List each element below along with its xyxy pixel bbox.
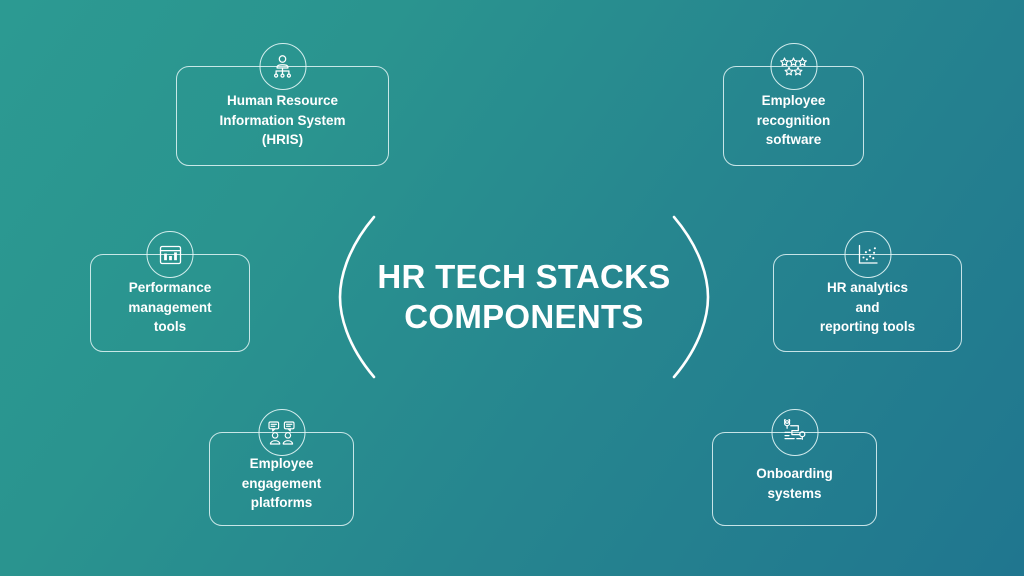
card-analytics-label: HR analytics and reporting tools <box>810 278 925 338</box>
left-bracket-icon <box>334 214 380 380</box>
page-title: HR TECH STACKS COMPONENTS <box>374 257 674 338</box>
card-recognition-label: Employee recognition software <box>747 91 841 151</box>
center-block: HR TECH STACKS COMPONENTS <box>334 214 714 380</box>
roadmap-pins-icon <box>771 409 818 456</box>
card-analytics[interactable]: HR analytics and reporting tools <box>773 254 962 352</box>
center-title-line1: HR TECH STACKS <box>377 258 670 295</box>
card-onboarding[interactable]: Onboarding systems <box>712 432 877 526</box>
bar-chart-icon <box>147 231 194 278</box>
card-hris[interactable]: Human Resource Information System (HRIS) <box>176 66 389 166</box>
card-onboarding-label: Onboarding systems <box>746 464 843 504</box>
card-performance[interactable]: Performance management tools <box>90 254 250 352</box>
card-engagement-label: Employee engagement platforms <box>232 454 332 514</box>
center-title-line2: COMPONENTS <box>374 297 674 337</box>
card-hris-label: Human Resource Information System (HRIS) <box>209 91 355 151</box>
five-stars-icon <box>770 43 817 90</box>
card-performance-label: Performance management tools <box>118 278 221 338</box>
card-recognition[interactable]: Employee recognition software <box>723 66 864 166</box>
card-engagement[interactable]: Employee engagement platforms <box>209 432 354 526</box>
scatter-plot-icon <box>844 231 891 278</box>
hr-tech-stack-infographic: HR TECH STACKS COMPONENTS H <box>0 0 1024 576</box>
two-people-chat-icon <box>258 409 305 456</box>
org-chart-person-icon <box>259 43 306 90</box>
right-bracket-icon <box>668 214 714 380</box>
